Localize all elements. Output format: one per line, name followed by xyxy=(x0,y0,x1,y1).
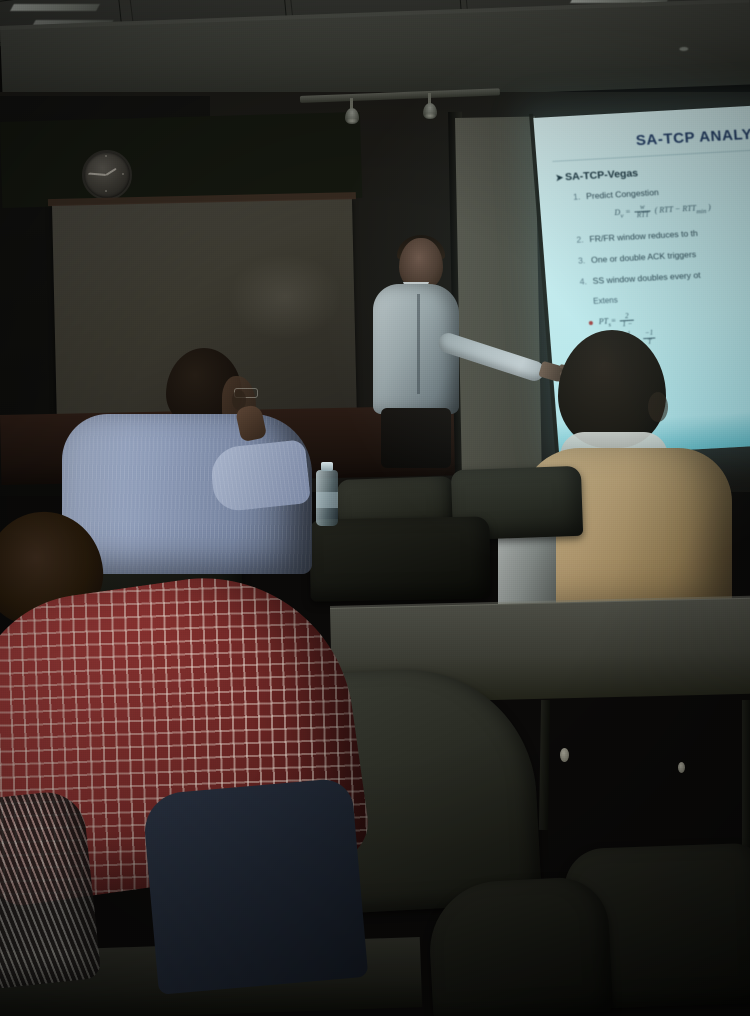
attendee-ear xyxy=(648,392,668,422)
attendee-arm xyxy=(209,439,311,513)
audience-member-blue-shirt xyxy=(62,348,322,568)
slide-bullet-label: SA-TCP-Vegas xyxy=(565,167,639,183)
formula-fraction: w RTT xyxy=(634,204,651,221)
table-leg-2 xyxy=(742,700,750,850)
bottle-cap xyxy=(321,462,333,471)
presenter xyxy=(355,238,495,468)
slide-formula-1: Dv = w RTT ( RTT − RTTmin ) xyxy=(614,197,750,221)
presentation-photo: SA-TCP ANALYTI ➤SA-TCP-Vegas 1.Predict C… xyxy=(0,0,750,1016)
formula-fraction-2: 2 1 − xyxy=(620,312,635,328)
table-leg-1 xyxy=(539,700,550,830)
red-bullet-icon xyxy=(589,320,593,324)
slide-item-2: 2.FR/FR window reduces to th xyxy=(576,223,750,244)
chair-foreground-3 xyxy=(427,875,614,1016)
audience-member-red-checkered xyxy=(0,560,374,980)
presenter-legs xyxy=(381,408,451,468)
wall-clock-icon xyxy=(82,150,132,200)
table-fastener xyxy=(560,748,569,762)
slide-title: SA-TCP ANALYTI xyxy=(551,125,750,154)
slide-numbered-list-2: 2.FR/FR window reduces to th 3.One or do… xyxy=(558,223,750,287)
presenter-shirt-placket xyxy=(417,294,420,394)
attendee-head xyxy=(558,330,666,448)
bullet-arrow-icon: ➤ xyxy=(555,172,563,182)
slide-item-4: 4.SS window doubles every ot xyxy=(579,265,750,286)
slide-bullet-vegas: ➤SA-TCP-Vegas xyxy=(555,160,750,184)
attendee-jeans xyxy=(142,777,369,995)
slide-item-3: 3.One or double ACK triggers xyxy=(578,244,750,265)
slide-note: Extens xyxy=(593,286,750,305)
table-fastener-2 xyxy=(678,762,685,773)
ceiling-light-left xyxy=(10,4,100,11)
